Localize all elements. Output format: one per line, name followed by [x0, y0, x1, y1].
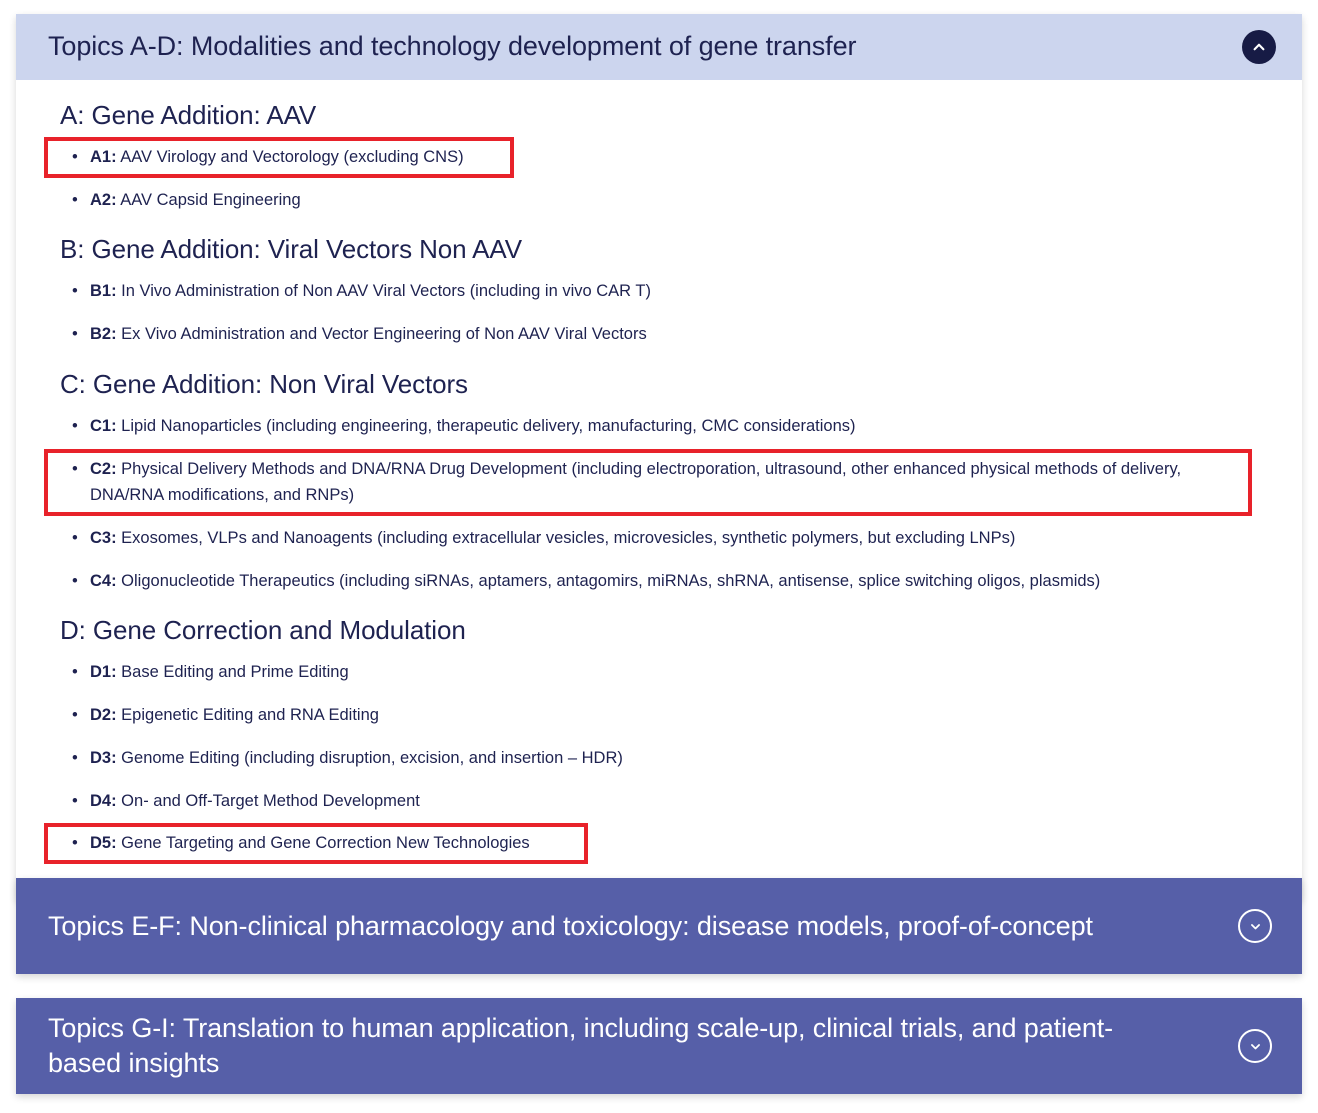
- topic-item-c3[interactable]: C3: Exosomes, VLPs and Nanoagents (inclu…: [44, 518, 1274, 559]
- topic-text-d4: On- and Off-Target Method Development: [117, 792, 420, 810]
- section-heading-a: A: Gene Addition: AAV: [60, 100, 1274, 131]
- topic-code-d5: D5:: [90, 834, 117, 852]
- topic-item-d1[interactable]: D1: Base Editing and Prime Editing: [44, 652, 1274, 693]
- topics-accordion-page: Topics A-D: Modalities and technology de…: [0, 0, 1318, 1113]
- panel-title-topics-e-f: Topics E-F: Non-clinical pharmacology an…: [48, 909, 1093, 944]
- topic-item-c1[interactable]: C1: Lipid Nanoparticles (including engin…: [44, 406, 1274, 447]
- topic-list-b: B1: In Vivo Administration of Non AAV Vi…: [44, 271, 1274, 354]
- topic-text-d5: Gene Targeting and Gene Correction New T…: [117, 834, 530, 852]
- section-d: D: Gene Correction and Modulation D1: Ba…: [44, 615, 1274, 864]
- topic-item-d3[interactable]: D3: Genome Editing (including disruption…: [44, 738, 1274, 779]
- topic-list-d: D1: Base Editing and Prime Editing D2: E…: [44, 652, 1274, 864]
- chevron-up-icon[interactable]: [1242, 30, 1276, 64]
- chevron-down-icon[interactable]: [1238, 1029, 1272, 1063]
- topic-code-d1: D1:: [90, 663, 117, 681]
- topic-text-a2: AAV Capsid Engineering: [117, 191, 301, 209]
- section-c: C: Gene Addition: Non Viral Vectors C1: …: [44, 369, 1274, 602]
- topic-text-b2: Ex Vivo Administration and Vector Engine…: [117, 325, 647, 343]
- topic-list-a: A1: AAV Virology and Vectorology (exclud…: [44, 137, 1274, 220]
- topic-text-d1: Base Editing and Prime Editing: [117, 663, 349, 681]
- topic-text-b1: In Vivo Administration of Non AAV Viral …: [117, 282, 651, 300]
- topic-code-d2: D2:: [90, 706, 117, 724]
- topic-code-b1: B1:: [90, 282, 117, 300]
- panel-header-topics-a-d[interactable]: Topics A-D: Modalities and technology de…: [16, 14, 1302, 80]
- accordion-panel-topics-e-f[interactable]: Topics E-F: Non-clinical pharmacology an…: [16, 878, 1302, 974]
- topic-item-d4[interactable]: D4: On- and Off-Target Method Developmen…: [44, 781, 1274, 822]
- topic-text-d2: Epigenetic Editing and RNA Editing: [117, 706, 379, 724]
- topic-item-d5[interactable]: D5: Gene Targeting and Gene Correction N…: [44, 823, 588, 864]
- topic-code-c3: C3:: [90, 529, 117, 547]
- topic-code-d3: D3:: [90, 749, 117, 767]
- topic-item-c4[interactable]: C4: Oligonucleotide Therapeutics (includ…: [44, 561, 1274, 602]
- accordion-panel-topics-g-i[interactable]: Topics G-I: Translation to human applica…: [16, 998, 1302, 1094]
- topic-code-c4: C4:: [90, 572, 117, 590]
- topic-code-c2: C2:: [90, 460, 117, 478]
- topic-item-d2[interactable]: D2: Epigenetic Editing and RNA Editing: [44, 695, 1274, 736]
- section-heading-d: D: Gene Correction and Modulation: [60, 615, 1274, 646]
- panel-title-topics-a-d: Topics A-D: Modalities and technology de…: [48, 31, 856, 63]
- topic-code-a2: A2:: [90, 191, 117, 209]
- topic-text-c4: Oligonucleotide Therapeutics (including …: [117, 572, 1101, 590]
- panel-body-topics-a-d: A: Gene Addition: AAV A1: AAV Virology a…: [16, 80, 1302, 900]
- topic-item-a1[interactable]: A1: AAV Virology and Vectorology (exclud…: [44, 137, 514, 178]
- topic-code-d4: D4:: [90, 792, 117, 810]
- topic-item-b1[interactable]: B1: In Vivo Administration of Non AAV Vi…: [44, 271, 1274, 312]
- section-heading-c: C: Gene Addition: Non Viral Vectors: [60, 369, 1274, 400]
- topic-code-a1: A1:: [90, 148, 117, 166]
- chevron-down-icon[interactable]: [1238, 909, 1272, 943]
- topic-text-d3: Genome Editing (including disruption, ex…: [117, 749, 623, 767]
- section-b: B: Gene Addition: Viral Vectors Non AAV …: [44, 234, 1274, 354]
- topic-item-a2[interactable]: A2: AAV Capsid Engineering: [44, 180, 1274, 221]
- topic-text-c1: Lipid Nanoparticles (including engineeri…: [117, 417, 856, 435]
- topic-text-c2: Physical Delivery Methods and DNA/RNA Dr…: [90, 460, 1181, 505]
- section-a: A: Gene Addition: AAV A1: AAV Virology a…: [44, 100, 1274, 220]
- accordion-panel-topics-a-d: Topics A-D: Modalities and technology de…: [16, 14, 1302, 900]
- topic-text-a1: AAV Virology and Vectorology (excluding …: [117, 148, 464, 166]
- topic-text-c3: Exosomes, VLPs and Nanoagents (including…: [117, 529, 1016, 547]
- topic-item-b2[interactable]: B2: Ex Vivo Administration and Vector En…: [44, 314, 1274, 355]
- topic-code-c1: C1:: [90, 417, 117, 435]
- topic-list-c: C1: Lipid Nanoparticles (including engin…: [44, 406, 1274, 602]
- section-heading-b: B: Gene Addition: Viral Vectors Non AAV: [60, 234, 1274, 265]
- topic-item-c2[interactable]: C2: Physical Delivery Methods and DNA/RN…: [44, 449, 1252, 516]
- panel-title-topics-g-i: Topics G-I: Translation to human applica…: [48, 1011, 1183, 1080]
- topic-code-b2: B2:: [90, 325, 117, 343]
